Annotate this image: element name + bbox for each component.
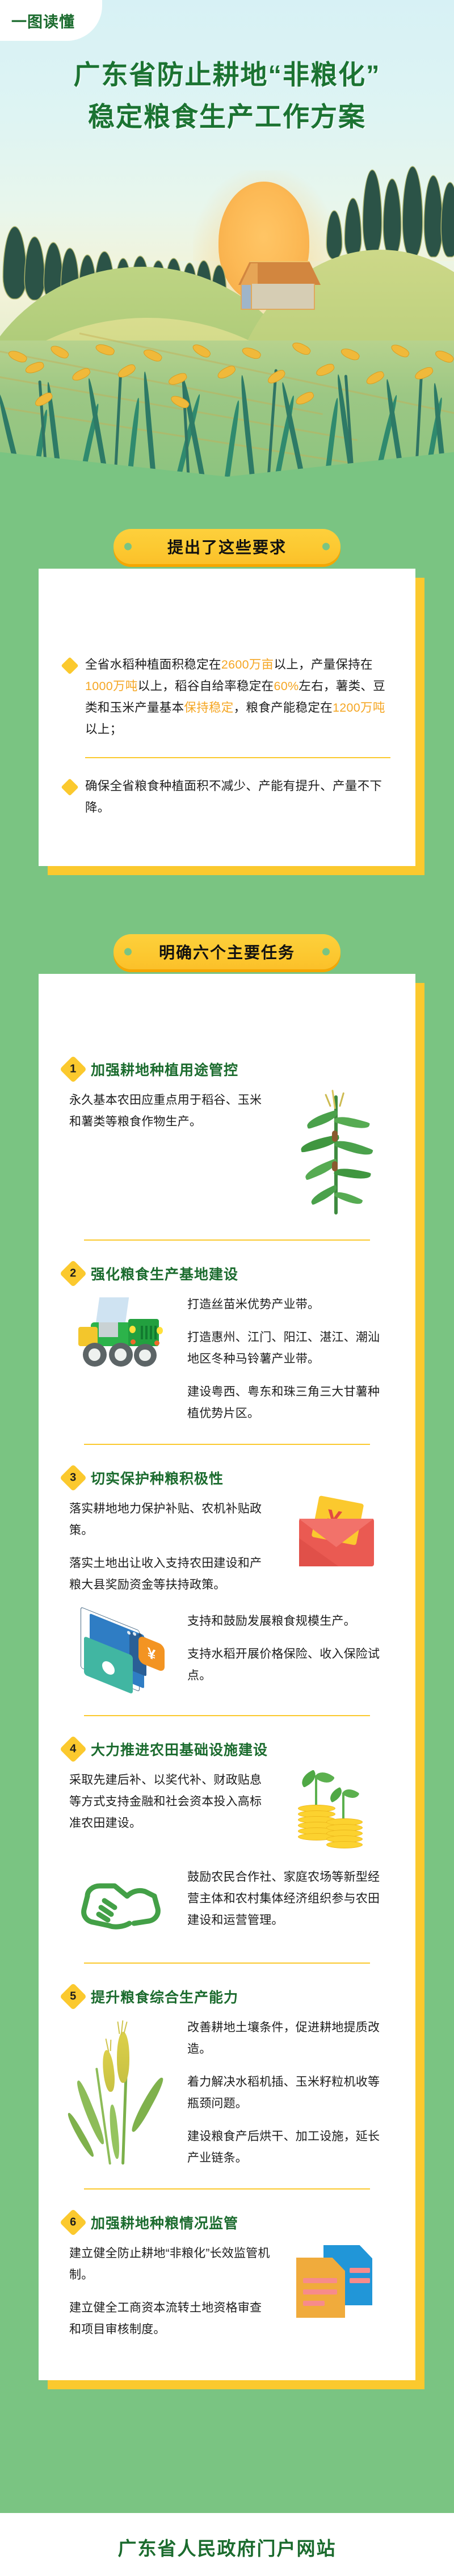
- spacer-before-footer: [0, 2448, 454, 2511]
- task-art: [69, 1294, 177, 1368]
- task-title: 切实保护种粮积极性: [91, 1468, 224, 1488]
- infographic-page: 一图读懂 广东省防止耕地“非粮化” 稳定粮食生产工作方案 提出了这些要求: [0, 0, 454, 2576]
- task-item-1: 1 加强耕地种植用途管控 永久基本农田应重点用于稻谷、玉米和薯类等粮食作物生产。: [39, 1059, 415, 1241]
- task-paragraph: 采取先建后补、以奖代补、财政贴息等方式支持金融和社会资本投入高标准农田建设。: [69, 1770, 272, 1834]
- requirement-text: 全省水稻种植面积稳定在2600万亩以上，产量保持在1000万吨以上，稻谷自给率稳…: [85, 654, 390, 740]
- task-paragraph: 落实耕地地力保护补贴、农机补贴政策。: [69, 1498, 272, 1541]
- task-paragraph: 着力解决水稻机插、玉米籽粒机收等瓶颈问题。: [187, 2071, 390, 2115]
- spacer-between-sections: [0, 866, 454, 934]
- content-body: 提出了这些要求 全省水稻种植面积稳定在2600万亩以上，产量保持在1000万吨以…: [0, 477, 454, 2513]
- hero-illustration: 一图读懂 广东省防止耕地“非粮化” 稳定粮食生产工作方案: [0, 0, 454, 477]
- task-text-block: 支持和鼓励发展粮食规模生产。 支持水稻开展价格保险、收入保险试点。: [187, 1611, 390, 1687]
- task-art: [283, 1090, 390, 1220]
- task-number-badge: 4: [60, 1735, 87, 1763]
- task-paragraph: 落实土地出让收入支持农田建设和产粮大县奖励资金等扶持政策。: [69, 1553, 272, 1596]
- task-header: 6 加强耕地种粮情况监管: [64, 2212, 390, 2233]
- task-title: 提升粮食综合生产能力: [91, 1986, 238, 2007]
- req-seg-highlight: 保持稳定: [184, 701, 233, 715]
- insurance-screen-icon: ¥: [75, 1611, 171, 1696]
- task-body: 落实耕地地力保护补贴、农机补贴政策。 落实土地出让收入支持农田建设和产粮大县奖励…: [64, 1498, 390, 1596]
- task-art: [283, 2243, 390, 2322]
- tasks-list: 1 加强耕地种植用途管控 永久基本农田应重点用于稻谷、玉米和薯类等粮食作物生产。: [39, 974, 415, 2380]
- plaque-hole-left: [124, 543, 132, 551]
- task-item-5: 5 提升粮食综合生产能力 改善耕地土壤条件，促进耕地提质改造。 着力解决水稻机插…: [39, 1986, 415, 2190]
- task-paragraph: 建设粮食产后烘干、加工设施，延长产业链条。: [187, 2126, 390, 2169]
- requirement-text: 确保全省粮食种植面积不减少、产能有提升、产量不下降。: [85, 775, 390, 818]
- task-paragraph: 打造丝苗米优势产业带。: [187, 1294, 390, 1316]
- task-body: 打造丝苗米优势产业带。 打造惠州、江门、阳江、湛江、潮汕地区冬种马铃薯产业带。 …: [64, 1294, 390, 1424]
- spacer-top: [0, 477, 454, 529]
- task-body-secondary: 鼓励农民合作社、家庭农场等新型经营主体和农村集体经济组织参与农田建设和运营管理。: [64, 1867, 390, 1943]
- task-text-block: 建立健全防止耕地“非粮化”长效监管机制。 建立健全工商资本流转土地资格审查和项目…: [69, 2243, 272, 2340]
- task-title: 加强耕地种植用途管控: [91, 1059, 238, 1079]
- task-item-2: 2 强化粮食生产基地建设 打造丝苗米优势产业带。 打造惠州、江门、阳江、湛江、潮…: [39, 1263, 415, 1445]
- barn-icon: [238, 261, 321, 315]
- tractor-icon: [74, 1294, 173, 1368]
- task-header: 2 强化粮食生产基地建设: [64, 1263, 390, 1284]
- requirement-item: 全省水稻种植面积稳定在2600万亩以上，产量保持在1000万吨以上，稻谷自给率稳…: [64, 654, 390, 755]
- task-text-block: 采取先建后补、以奖代补、财政贴息等方式支持金融和社会资本投入高标准农田建设。: [69, 1770, 272, 1834]
- task-number-badge: 1: [60, 1056, 87, 1083]
- task-item-3: 3 切实保护种粮积极性 落实耕地地力保护补贴、农机补贴政策。 落实土地出让收入支…: [39, 1468, 415, 1716]
- task-text-block: 打造丝苗米优势产业带。 打造惠州、江门、阳江、湛江、潮汕地区冬种马铃薯产业带。 …: [187, 1294, 390, 1424]
- page-title-line2: 稳定粮食生产工作方案: [0, 96, 454, 138]
- task-body: 采取先建后补、以奖代补、财政贴息等方式支持金融和社会资本投入高标准农田建设。: [64, 1770, 390, 1852]
- task-number: 6: [70, 2217, 76, 2228]
- task-number-badge: 2: [60, 1260, 87, 1287]
- requirement-item: 确保全省粮食种植面积不减少、产能有提升、产量不下降。: [64, 775, 390, 833]
- task-paragraph: 支持和鼓励发展粮食规模生产。: [187, 1611, 390, 1632]
- diamond-bullet-icon: [61, 657, 78, 674]
- req-seg-highlight: 1000万吨: [85, 679, 138, 693]
- task-number: 3: [70, 1472, 76, 1484]
- task-number-badge: 3: [60, 1464, 87, 1491]
- task-text-block: 落实耕地地力保护补贴、农机补贴政策。 落实土地出让收入支持农田建设和产粮大县奖励…: [69, 1498, 272, 1596]
- rice-field-icon: [0, 341, 454, 477]
- task-divider: [84, 1963, 370, 1964]
- task-header: 1 加强耕地种植用途管控: [64, 1059, 390, 1079]
- requirements-card: 全省水稻种植面积稳定在2600万亩以上，产量保持在1000万吨以上，稻谷自给率稳…: [39, 569, 415, 866]
- req-seg: 以上，产量保持在: [274, 658, 372, 671]
- requirements-banner-label: 提出了这些要求: [167, 535, 287, 558]
- page-title-line1: 广东省防止耕地“非粮化”: [0, 54, 454, 96]
- requirements-banner-plaque: 提出了这些要求: [113, 529, 340, 564]
- task-divider: [84, 1239, 370, 1241]
- read-tag-label: 一图读懂: [11, 10, 75, 32]
- task-divider: [84, 1444, 370, 1445]
- footer-source-label: 广东省人民政府门户网站: [118, 2533, 337, 2561]
- task-body: 建立健全防止耕地“非粮化”长效监管机制。 建立健全工商资本流转土地资格审查和项目…: [64, 2243, 390, 2340]
- task-text-block: 永久基本农田应重点用于稻谷、玉米和薯类等粮食作物生产。: [69, 1090, 272, 1133]
- task-text-block: 改善耕地土壤条件，促进耕地提质改造。 着力解决水稻机插、玉米籽粒机收等瓶颈问题。…: [187, 2017, 390, 2169]
- task-art: [69, 2017, 177, 2165]
- task-paragraph: 打造惠州、江门、阳江、湛江、潮汕地区冬种马铃薯产业带。: [187, 1327, 390, 1370]
- task-number: 2: [70, 1268, 76, 1279]
- task-paragraph: 改善耕地土壤条件，促进耕地提质改造。: [187, 2017, 390, 2060]
- task-art: [283, 1770, 390, 1852]
- task-paragraph: 鼓励农民合作社、家庭农场等新型经营主体和农村集体经济组织参与农田建设和运营管理。: [187, 1867, 390, 1931]
- documents-icon: [288, 2243, 385, 2322]
- task-divider: [84, 2188, 370, 2190]
- requirements-list: 全省水稻种植面积稳定在2600万亩以上，产量保持在1000万吨以上，稻谷自给率稳…: [39, 569, 415, 866]
- page-title: 广东省防止耕地“非粮化” 稳定粮食生产工作方案: [0, 54, 454, 138]
- task-title: 加强耕地种粮情况监管: [91, 2212, 238, 2233]
- task-paragraph: 建设粤西、粤东和珠三角三大甘薯种植优势片区。: [187, 1381, 390, 1424]
- task-art: ¥: [283, 1498, 390, 1572]
- wheat-icon: [74, 2017, 173, 2165]
- req-seg: 以上；: [85, 722, 122, 736]
- spacer-bottom: [0, 2380, 454, 2448]
- task-item-6: 6 加强耕地种粮情况监管 建立健全防止耕地“非粮化”长效监管机制。 建立健全工商…: [39, 2212, 415, 2340]
- corn-plant-icon: [297, 1090, 376, 1220]
- task-divider: [84, 1715, 370, 1716]
- task-number-badge: 5: [60, 1983, 87, 2010]
- task-header: 4 大力推进农田基础设施建设: [64, 1739, 390, 1759]
- tasks-banner-label: 明确六个主要任务: [159, 940, 295, 963]
- task-number: 4: [70, 1743, 76, 1755]
- task-number-badge: 6: [60, 2209, 87, 2236]
- req-seg-highlight: 60%: [274, 679, 299, 693]
- task-item-4: 4 大力推进农田基础设施建设 采取先建后补、以奖代补、财政贴息等方式支持金融和社…: [39, 1739, 415, 1964]
- req-seg-highlight: 1200万吨: [333, 701, 385, 715]
- tasks-banner: 明确六个主要任务: [0, 934, 454, 974]
- task-title: 大力推进农田基础设施建设: [91, 1739, 268, 1759]
- task-number: 1: [70, 1064, 76, 1075]
- handshake-icon: [75, 1867, 171, 1943]
- task-art: ¥: [69, 1611, 177, 1696]
- task-paragraph: 建立健全工商资本流转土地资格审查和项目审核制度。: [69, 2297, 272, 2340]
- task-paragraph: 建立健全防止耕地“非粮化”长效监管机制。: [69, 2243, 272, 2286]
- diamond-bullet-icon: [61, 778, 78, 796]
- handshake-svg: [75, 1867, 166, 1938]
- task-body: 永久基本农田应重点用于稻谷、玉米和薯类等粮食作物生产。: [64, 1090, 390, 1220]
- footer: 广东省人民政府门户网站: [0, 2513, 454, 2576]
- task-number: 5: [70, 1991, 76, 2002]
- requirements-card-wrap: 全省水稻种植面积稳定在2600万亩以上，产量保持在1000万吨以上，稻谷自给率稳…: [0, 569, 454, 866]
- req-seg-highlight: 2600万亩: [221, 658, 274, 671]
- tasks-card-wrap: 1 加强耕地种植用途管控 永久基本农田应重点用于稻谷、玉米和薯类等粮食作物生产。: [0, 974, 454, 2380]
- plaque-hole-left: [124, 948, 132, 956]
- task-header: 5 提升粮食综合生产能力: [64, 1986, 390, 2007]
- task-title: 强化粮食生产基地建设: [91, 1263, 238, 1284]
- task-paragraph: 支持水稻开展价格保险、收入保险试点。: [187, 1644, 390, 1687]
- task-art: [69, 1867, 177, 1943]
- requirements-banner: 提出了这些要求: [0, 529, 454, 569]
- tasks-banner-plaque: 明确六个主要任务: [113, 934, 340, 969]
- req-seg: ，粮食产能稳定在: [234, 701, 333, 715]
- tasks-card: 1 加强耕地种植用途管控 永久基本农田应重点用于稻谷、玉米和薯类等粮食作物生产。: [39, 974, 415, 2380]
- requirements-card-tail: [64, 833, 390, 866]
- task-body: 改善耕地土壤条件，促进耕地提质改造。 着力解决水稻机插、玉米籽粒机收等瓶颈问题。…: [64, 2017, 390, 2169]
- plaque-hole-right: [322, 543, 330, 551]
- req-seg: 全省水稻种植面积稳定在: [85, 658, 221, 671]
- task-paragraph: 永久基本农田应重点用于稻谷、玉米和薯类等粮食作物生产。: [69, 1090, 272, 1133]
- task-body-secondary: 支持和鼓励发展粮食规模生产。 支持水稻开展价格保险、收入保险试点。: [64, 1611, 390, 1696]
- plaque-hole-right: [322, 948, 330, 956]
- req-seg: 以上，稻谷自给率稳定在: [138, 679, 274, 693]
- coins-sprout-icon: [290, 1770, 384, 1852]
- task-text-block: 鼓励农民合作社、家庭农场等新型经营主体和农村集体经济组织参与农田建设和运营管理。: [187, 1867, 390, 1931]
- requirements-divider: [85, 757, 390, 758]
- envelope-money-icon: ¥: [290, 1498, 384, 1572]
- task-header: 3 切实保护种粮积极性: [64, 1468, 390, 1488]
